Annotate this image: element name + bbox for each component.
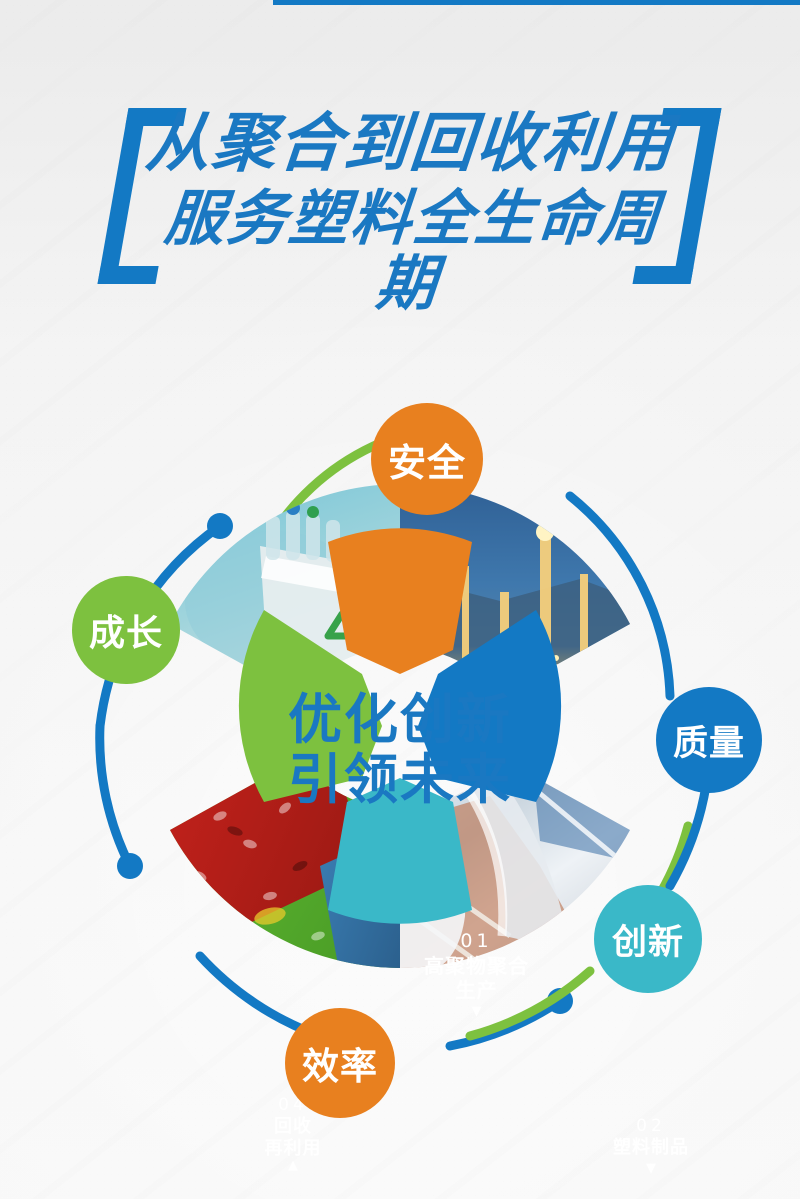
badge-quality-label: 质量: [673, 715, 745, 766]
badge-growth[interactable]: 成长: [72, 576, 180, 684]
arc-blue-left: [100, 726, 130, 866]
badge-quality[interactable]: 质量: [656, 687, 762, 793]
title-lines: 从聚合到回收利用 服务塑料全生命周期: [140, 110, 680, 317]
badge-efficiency[interactable]: 效率: [285, 1008, 395, 1118]
badge-safety-label: 安全: [388, 432, 466, 487]
badge-safety[interactable]: 安全: [371, 403, 483, 515]
badge-efficiency-label: 效率: [302, 1036, 378, 1090]
badge-innovation[interactable]: 创新: [594, 885, 702, 993]
badge-innovation-label: 创新: [612, 914, 684, 965]
title-line-1: 从聚合到回收利用: [137, 110, 683, 179]
infographic-poster: 从聚合到回收利用 服务塑料全生命周期: [0, 0, 800, 1199]
title-block: 从聚合到回收利用 服务塑料全生命周期: [0, 104, 800, 290]
badge-growth-label: 成长: [89, 604, 163, 656]
title-line-2: 服务塑料全生命周期: [134, 187, 685, 317]
top-accent-bar: [273, 0, 800, 5]
arc-dot-top-left: [207, 513, 233, 539]
arc-dot-left: [117, 853, 143, 879]
